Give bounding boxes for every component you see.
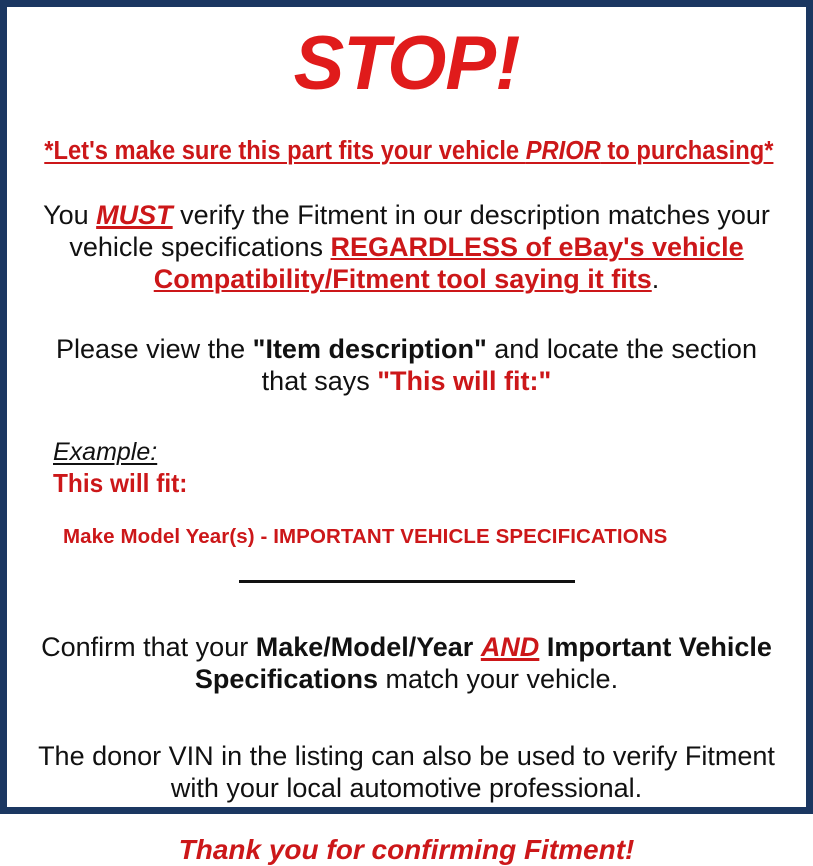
fitment-notice-card: STOP! *Let's make sure this part fits yo… xyxy=(0,0,813,814)
example-spec-line: Make Model Year(s) - IMPORTANT VEHICLE S… xyxy=(53,525,796,549)
example-fit-line: This will fit: xyxy=(53,469,751,499)
must-emphasis: MUST xyxy=(96,200,173,230)
must-part-3: . xyxy=(652,264,660,294)
subheadline-tail: to purchasing* xyxy=(601,137,774,165)
must-verify-paragraph: You MUST verify the Fitment in our descr… xyxy=(17,199,796,296)
example-block: Example: This will fit: Make Model Year(… xyxy=(17,438,796,549)
divider-wrap xyxy=(17,573,796,591)
make-model-year-label: Make/Model/Year xyxy=(256,632,481,662)
and-emphasis: AND xyxy=(481,632,540,662)
donor-vin-paragraph: The donor VIN in the listing can also be… xyxy=(17,740,796,805)
subheadline: *Let's make sure this part fits your veh… xyxy=(44,137,768,165)
view-part-1: Please view the xyxy=(56,334,253,364)
confirm-part-2: match your vehicle. xyxy=(378,664,618,694)
thank-you-line: Thank you for confirming Fitment! xyxy=(17,834,796,866)
item-description-label: "Item description" xyxy=(253,334,487,364)
this-will-fit-quote: "This will fit:" xyxy=(377,366,551,396)
example-label-row: Example: xyxy=(53,438,796,467)
example-label: Example: xyxy=(53,438,157,467)
notice-content: STOP! *Let's make sure this part fits yo… xyxy=(7,7,806,807)
subheadline-emphasis: PRIOR xyxy=(526,137,601,165)
stop-headline: STOP! xyxy=(17,25,796,103)
subheadline-lead: *Let's make sure this part fits your veh… xyxy=(44,137,525,165)
confirm-paragraph: Confirm that your Make/Model/Year AND Im… xyxy=(17,631,796,696)
section-divider xyxy=(239,580,575,583)
view-description-paragraph: Please view the "Item description" and l… xyxy=(17,333,796,398)
must-part-1: You xyxy=(43,200,96,230)
confirm-part-1: Confirm that your xyxy=(41,632,256,662)
